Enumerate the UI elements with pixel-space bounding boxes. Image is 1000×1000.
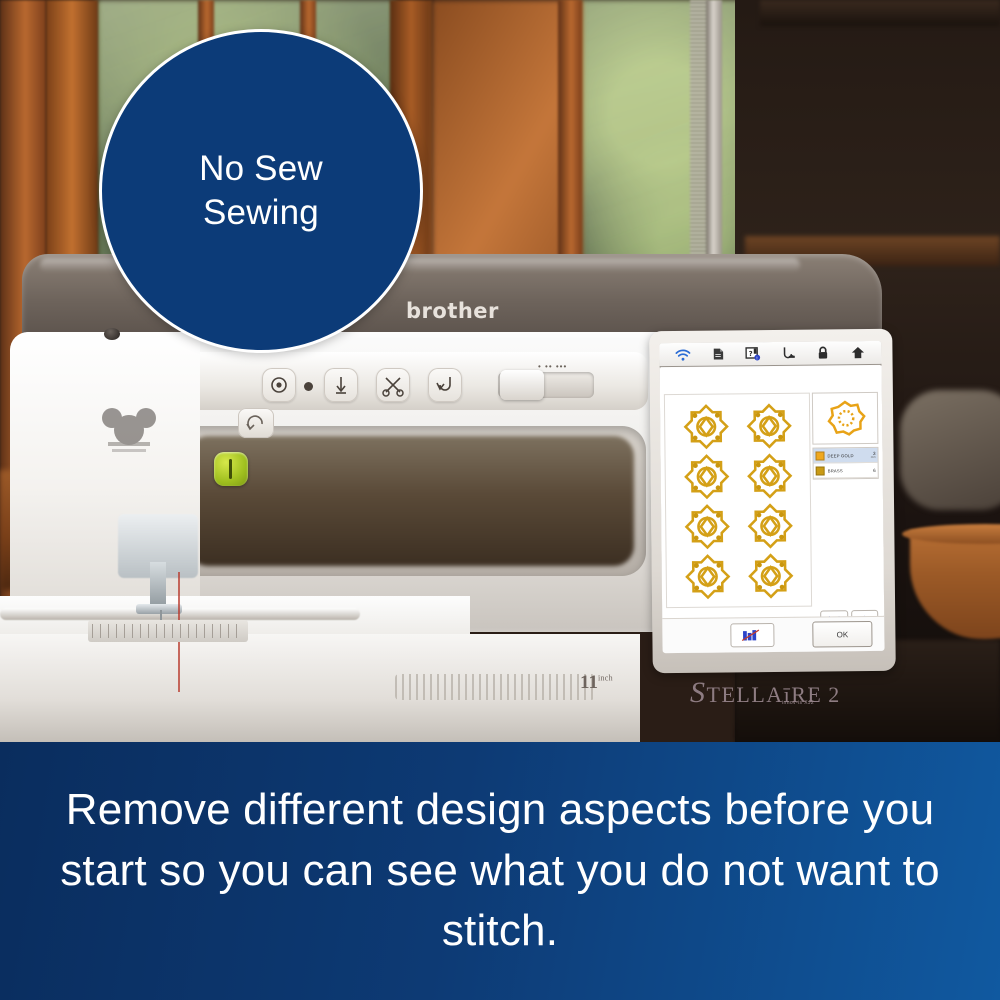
machine-arm-opening <box>188 436 634 566</box>
reinforcement-stitch-button[interactable] <box>428 368 462 402</box>
thread-color-list[interactable]: DEEP GOLD 3 min BRASS 6 <box>812 447 878 480</box>
screen-side-panel: DEEP GOLD 3 min BRASS 6 <box>812 392 880 608</box>
svg-text:?: ? <box>749 349 753 357</box>
design-motif[interactable] <box>739 502 800 551</box>
home-icon[interactable] <box>849 345 867 361</box>
design-motif[interactable] <box>738 402 799 451</box>
screen-toolbar: ? ! <box>659 341 881 367</box>
color-value: 3 min <box>871 451 876 459</box>
shelf-top <box>760 0 1000 26</box>
badge-text: No SewSewing <box>199 147 323 235</box>
threader-glyph <box>229 459 232 479</box>
badge-line-2: Sewing <box>203 193 319 232</box>
color-swatch <box>815 451 824 460</box>
disney-mickey-emblem <box>96 404 162 462</box>
color-value: 6 <box>873 467 876 472</box>
throat-size-badge: 11inch <box>580 672 613 694</box>
needle-position-button[interactable] <box>324 368 358 402</box>
design-workspace[interactable] <box>664 393 812 609</box>
design-grid <box>675 402 801 599</box>
presser-foot <box>136 604 182 614</box>
status-led <box>304 382 313 391</box>
presser-bar <box>150 562 166 610</box>
thread-color-row[interactable]: DEEP GOLD 3 min <box>813 448 877 464</box>
design-motif[interactable] <box>675 402 736 451</box>
lock-icon[interactable] <box>814 345 832 361</box>
no-sew-sewing-badge: No SewSewing <box>99 29 423 353</box>
color-name: DEEP GOLD <box>827 452 870 457</box>
speed-slider-knob[interactable] <box>500 370 544 400</box>
caption-text: Remove different design aspects before y… <box>0 780 1000 962</box>
throat-size-number: 11 <box>580 672 598 693</box>
design-motif[interactable] <box>677 552 738 601</box>
bed-ruler-markings <box>395 674 595 700</box>
color-swatch <box>816 466 825 475</box>
design-preview[interactable] <box>812 392 879 445</box>
model-name: TELLAīRE 2 <box>707 682 841 707</box>
design-motif[interactable] <box>676 502 737 551</box>
manual-page-icon[interactable] <box>709 346 727 362</box>
thread-color-row[interactable]: BRASS 6 <box>814 463 878 479</box>
color-name: BRASS <box>828 467 873 472</box>
screen-bottom-bar: OK <box>662 616 884 653</box>
wifi-icon[interactable] <box>674 346 692 362</box>
ok-button[interactable]: OK <box>812 621 872 648</box>
model-initial: S <box>690 676 707 709</box>
promo-image: • •• ••• brother 11inch STELLAīRE 2 inno… <box>0 0 1000 1000</box>
machine-control-panel: • •• ••• <box>262 366 554 408</box>
color-value-unit: min <box>871 456 876 459</box>
bobbin-winder-button[interactable] <box>238 408 274 438</box>
speed-slider-marks: • •• ••• <box>538 362 600 370</box>
design-motif[interactable] <box>675 452 736 501</box>
help-guide-icon[interactable]: ? ! <box>744 346 762 362</box>
thread-chart-button[interactable] <box>730 623 774 647</box>
start-stop-button[interactable] <box>262 368 296 402</box>
model-badge: STELLAīRE 2 <box>690 676 841 710</box>
touchscreen[interactable]: ? ! <box>659 341 884 653</box>
needle-threader-button[interactable] <box>214 452 248 486</box>
design-motif[interactable] <box>738 452 799 501</box>
screen-canvas: DEEP GOLD 3 min BRASS 6 <box>660 366 885 618</box>
model-sub-badge: innov-is XJ2 <box>782 700 814 706</box>
needle-plate-markings <box>92 624 242 638</box>
brother-logo: brother <box>406 298 516 324</box>
screen-adjust-knob[interactable] <box>104 328 120 340</box>
badge-line-1: No Sew <box>199 149 323 188</box>
presser-foot-icon[interactable] <box>779 345 797 361</box>
thread-cutter-button[interactable] <box>376 368 410 402</box>
throat-size-unit: inch <box>598 674 613 683</box>
design-motif[interactable] <box>740 552 801 601</box>
photo-scene: • •• ••• brother 11inch STELLAīRE 2 inno… <box>0 0 1000 742</box>
touchscreen-bezel: ? ! <box>649 329 896 674</box>
caption-banner: Remove different design aspects before y… <box>0 742 1000 1000</box>
